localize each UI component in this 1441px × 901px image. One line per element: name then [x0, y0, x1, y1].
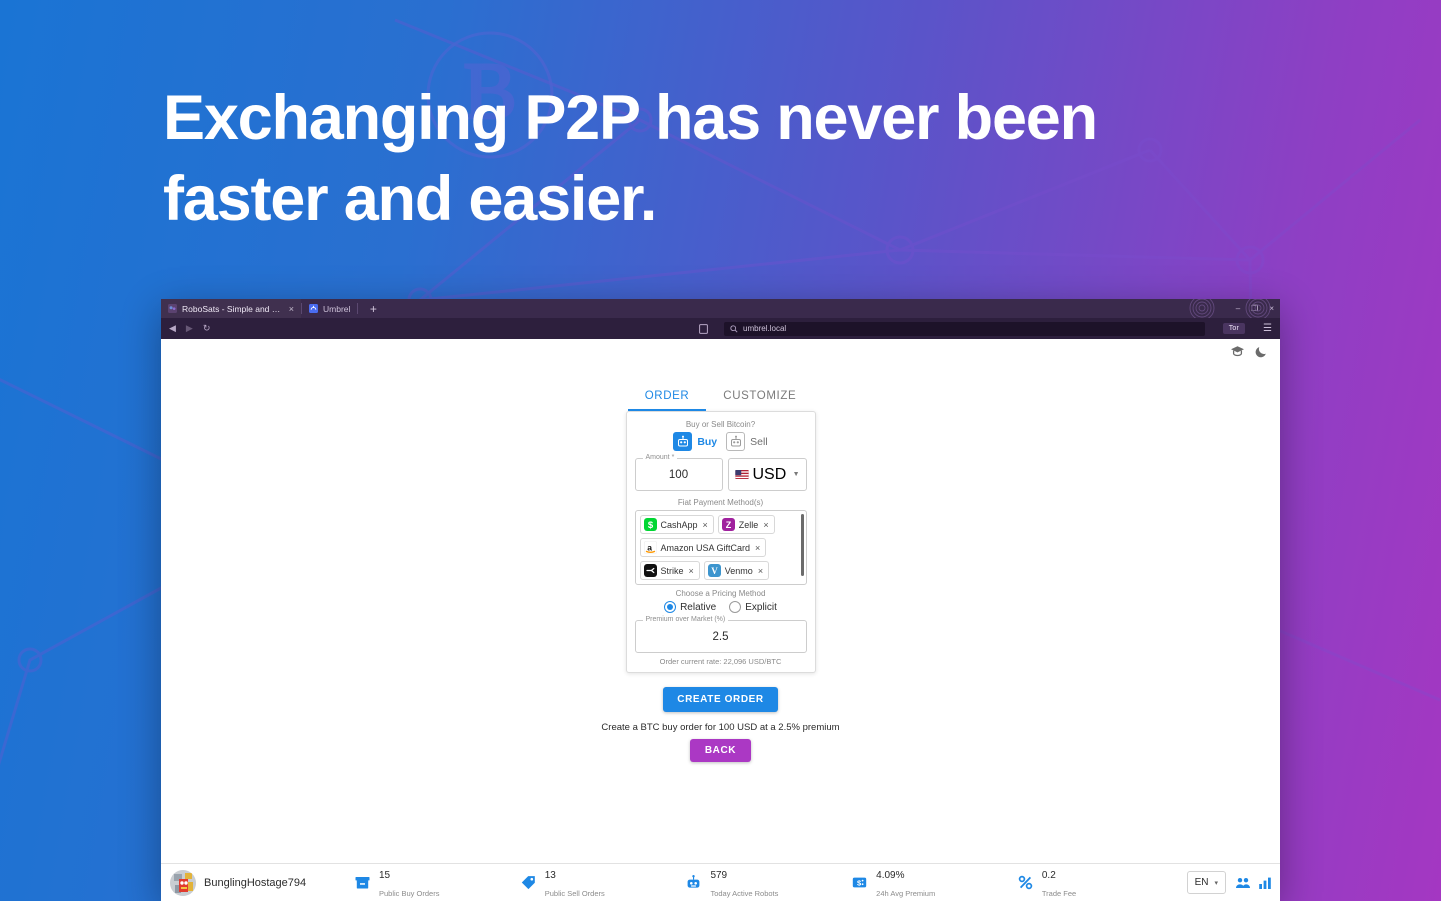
- premium-field[interactable]: Premium over Market (%) 2.5: [635, 620, 807, 653]
- browser-tab-umbrel[interactable]: Umbrel: [302, 299, 357, 318]
- payment-chip-label: Strike: [661, 566, 684, 576]
- svg-text:Z: Z: [726, 520, 732, 530]
- sell-option[interactable]: Sell: [726, 432, 768, 451]
- premium-input[interactable]: 2.5: [713, 631, 729, 643]
- payment-chip-remove-icon[interactable]: ×: [689, 566, 694, 576]
- sell-orders-tag-icon: [520, 874, 537, 891]
- username: BunglingHostage794: [204, 877, 306, 889]
- payment-chip-label: Venmo: [725, 566, 753, 576]
- address-bar-url: umbrel.local: [743, 324, 786, 333]
- status-bar: BunglingHostage794 15 Public Buy Orders: [161, 863, 1280, 901]
- stat-today-active-robots: 579 Today Active Robots: [685, 865, 851, 901]
- payment-chip-label: Amazon USA GiftCard: [661, 543, 751, 553]
- sell-robot-icon: [726, 432, 745, 451]
- tor-badge[interactable]: Tor: [1223, 323, 1245, 334]
- amount-field[interactable]: Amount * 100: [635, 458, 723, 491]
- svg-text:$: $: [647, 520, 653, 531]
- current-rate-note: Order current rate: 22,096 USD/BTC: [635, 657, 807, 666]
- umbrel-favicon: [309, 304, 318, 313]
- user-cell[interactable]: BunglingHostage794: [170, 870, 354, 896]
- robot-avatar[interactable]: [170, 870, 196, 896]
- browser-tab-close-icon[interactable]: ×: [289, 304, 294, 314]
- pricing-method-label: Choose a Pricing Method: [635, 589, 807, 598]
- buy-label: Buy: [697, 436, 717, 448]
- learn-graduation-cap-icon[interactable]: [1230, 345, 1245, 358]
- back-button[interactable]: ◀: [169, 324, 176, 333]
- robot-icon: [685, 874, 702, 891]
- currency-value: USD: [753, 466, 787, 484]
- payment-methods-box[interactable]: $ CashApp × Z Zelle ×: [635, 510, 807, 585]
- sell-label: Sell: [750, 436, 768, 448]
- order-summary-text: Create a BTC buy order for 100 USD at a …: [161, 722, 1280, 733]
- payment-chip-label: Zelle: [739, 520, 759, 530]
- stat-trade-fee: 0.2 Trade Fee: [1017, 865, 1183, 901]
- strike-icon: [644, 564, 657, 577]
- order-form-card: Buy or Sell Bitcoin?: [626, 411, 816, 673]
- amount-input[interactable]: 100: [669, 469, 688, 481]
- stat-public-sell-orders: 13 Public Sell Orders: [520, 865, 686, 901]
- forward-button[interactable]: ▶: [186, 324, 193, 333]
- page-title: Exchanging P2P has never been faster and…: [163, 78, 1163, 239]
- app-top-icons: [1230, 345, 1268, 358]
- payment-chip-remove-icon[interactable]: ×: [763, 520, 768, 530]
- browser-tab-title: Umbrel: [323, 304, 350, 314]
- pricing-option-relative[interactable]: Relative: [664, 601, 716, 613]
- buy-option[interactable]: Buy: [673, 432, 717, 451]
- svg-text:a: a: [647, 542, 652, 552]
- venmo-icon: V: [708, 564, 721, 577]
- back-button[interactable]: BACK: [690, 739, 751, 762]
- address-bar[interactable]: umbrel.local: [724, 322, 1205, 336]
- stat-label: Public Buy Orders: [379, 889, 439, 898]
- stat-label: 24h Avg Premium: [876, 889, 935, 898]
- search-icon: [730, 325, 738, 333]
- payment-methods-label: Fiat Payment Method(s): [635, 498, 807, 507]
- reload-button[interactable]: ↻: [203, 324, 211, 333]
- zelle-icon: Z: [722, 518, 735, 531]
- stat-value: 4.09%: [876, 870, 904, 881]
- stat-label: Public Sell Orders: [545, 889, 605, 898]
- tab-customize[interactable]: CUSTOMIZE: [706, 385, 813, 411]
- cashapp-icon: $: [644, 518, 657, 531]
- language-value: EN: [1195, 877, 1209, 888]
- stat-label: Trade Fee: [1042, 889, 1076, 898]
- stat-public-buy-orders: 15 Public Buy Orders: [354, 865, 520, 901]
- payment-chip-cashapp[interactable]: $ CashApp ×: [640, 515, 714, 534]
- payment-chip-zelle[interactable]: Z Zelle ×: [718, 515, 775, 534]
- chevron-down-icon: ▼: [793, 471, 800, 478]
- browser-tab-title: RoboSats - Simple and Private Bit: [182, 304, 284, 314]
- payment-chip-remove-icon[interactable]: ×: [703, 520, 708, 530]
- radio-explicit-label: Explicit: [745, 602, 777, 613]
- radio-explicit-icon[interactable]: [729, 601, 741, 613]
- form-tabs: ORDER CUSTOMIZE: [161, 385, 1280, 411]
- tab-order[interactable]: ORDER: [628, 385, 707, 411]
- buy-sell-toggle: Buy: [635, 432, 807, 451]
- dark-mode-moon-icon[interactable]: [1255, 345, 1268, 358]
- amount-legend: Amount *: [643, 454, 678, 461]
- us-flag-icon: [735, 470, 749, 480]
- pricing-method-radios: Relative Explicit: [635, 601, 807, 613]
- language-selector[interactable]: EN ▾: [1187, 871, 1226, 894]
- currency-select[interactable]: USD ▼: [728, 458, 807, 491]
- payment-methods-scrollbar[interactable]: [801, 514, 805, 576]
- stat-value: 579: [710, 870, 727, 881]
- payment-chip-strike[interactable]: Strike ×: [640, 561, 700, 580]
- browser-tab-strip: RoboSats - Simple and Private Bit × Umbr…: [161, 299, 1280, 318]
- bookmark-icon[interactable]: [699, 324, 708, 334]
- new-tab-button[interactable]: +: [358, 299, 388, 318]
- premium-legend: Premium over Market (%): [643, 616, 729, 623]
- stat-label: Today Active Robots: [710, 889, 778, 898]
- amount-row: Amount * 100: [635, 458, 807, 491]
- money-icon: $: [851, 874, 868, 891]
- amazon-icon: a: [644, 541, 657, 554]
- payment-chip-label: CashApp: [661, 520, 698, 530]
- payment-chip-remove-icon[interactable]: ×: [758, 566, 763, 576]
- promo-background: B B Exchanging P2P has never been faster…: [0, 0, 1441, 901]
- status-bar-icons: [1235, 876, 1272, 890]
- radio-relative-label: Relative: [680, 602, 716, 613]
- stats-bar-chart-icon[interactable]: [1258, 876, 1272, 890]
- buy-sell-label: Buy or Sell Bitcoin?: [635, 420, 807, 429]
- window-minimize-button[interactable]: –: [1236, 304, 1240, 313]
- browser-tab-robosats[interactable]: RoboSats - Simple and Private Bit ×: [161, 299, 301, 318]
- window-maximize-button[interactable]: ❐: [1251, 304, 1258, 313]
- radio-relative-icon[interactable]: [664, 601, 676, 613]
- app-content: ORDER CUSTOMIZE Buy or Sell Bitcoin?: [161, 385, 1280, 762]
- app-page: ORDER CUSTOMIZE Buy or Sell Bitcoin?: [161, 339, 1280, 901]
- payment-chip-remove-icon[interactable]: ×: [755, 543, 760, 553]
- stat-24h-avg-premium: $ 4.09% 24h Avg Premium: [851, 865, 1017, 901]
- browser-navigation-bar: ◀ ▶ ↻ umbrel.local Tor ☰: [161, 318, 1280, 339]
- percent-icon: [1017, 874, 1034, 891]
- stat-value: 13: [545, 870, 556, 881]
- stat-value: 15: [379, 870, 390, 881]
- hamburger-menu-icon[interactable]: ☰: [1263, 323, 1272, 334]
- payment-chip-amazon-usa-giftcard[interactable]: a Amazon USA GiftCard ×: [640, 538, 767, 557]
- community-people-icon[interactable]: [1235, 876, 1251, 890]
- robosats-favicon: [168, 304, 177, 313]
- buy-orders-icon: [354, 874, 371, 891]
- window-controls: – ❐ ×: [1236, 299, 1280, 318]
- svg-text:V: V: [711, 566, 718, 576]
- buy-robot-icon: [673, 432, 692, 451]
- browser-window: RoboSats - Simple and Private Bit × Umbr…: [161, 299, 1280, 901]
- payment-chip-venmo[interactable]: V Venmo ×: [704, 561, 769, 580]
- chevron-down-icon: ▾: [1215, 879, 1219, 887]
- create-order-button[interactable]: CREATE ORDER: [663, 687, 777, 712]
- stat-value: 0.2: [1042, 870, 1056, 881]
- create-order-row: CREATE ORDER: [161, 687, 1280, 712]
- back-row: BACK: [161, 739, 1280, 762]
- pricing-option-explicit[interactable]: Explicit: [729, 601, 777, 613]
- window-close-button[interactable]: ×: [1269, 304, 1274, 313]
